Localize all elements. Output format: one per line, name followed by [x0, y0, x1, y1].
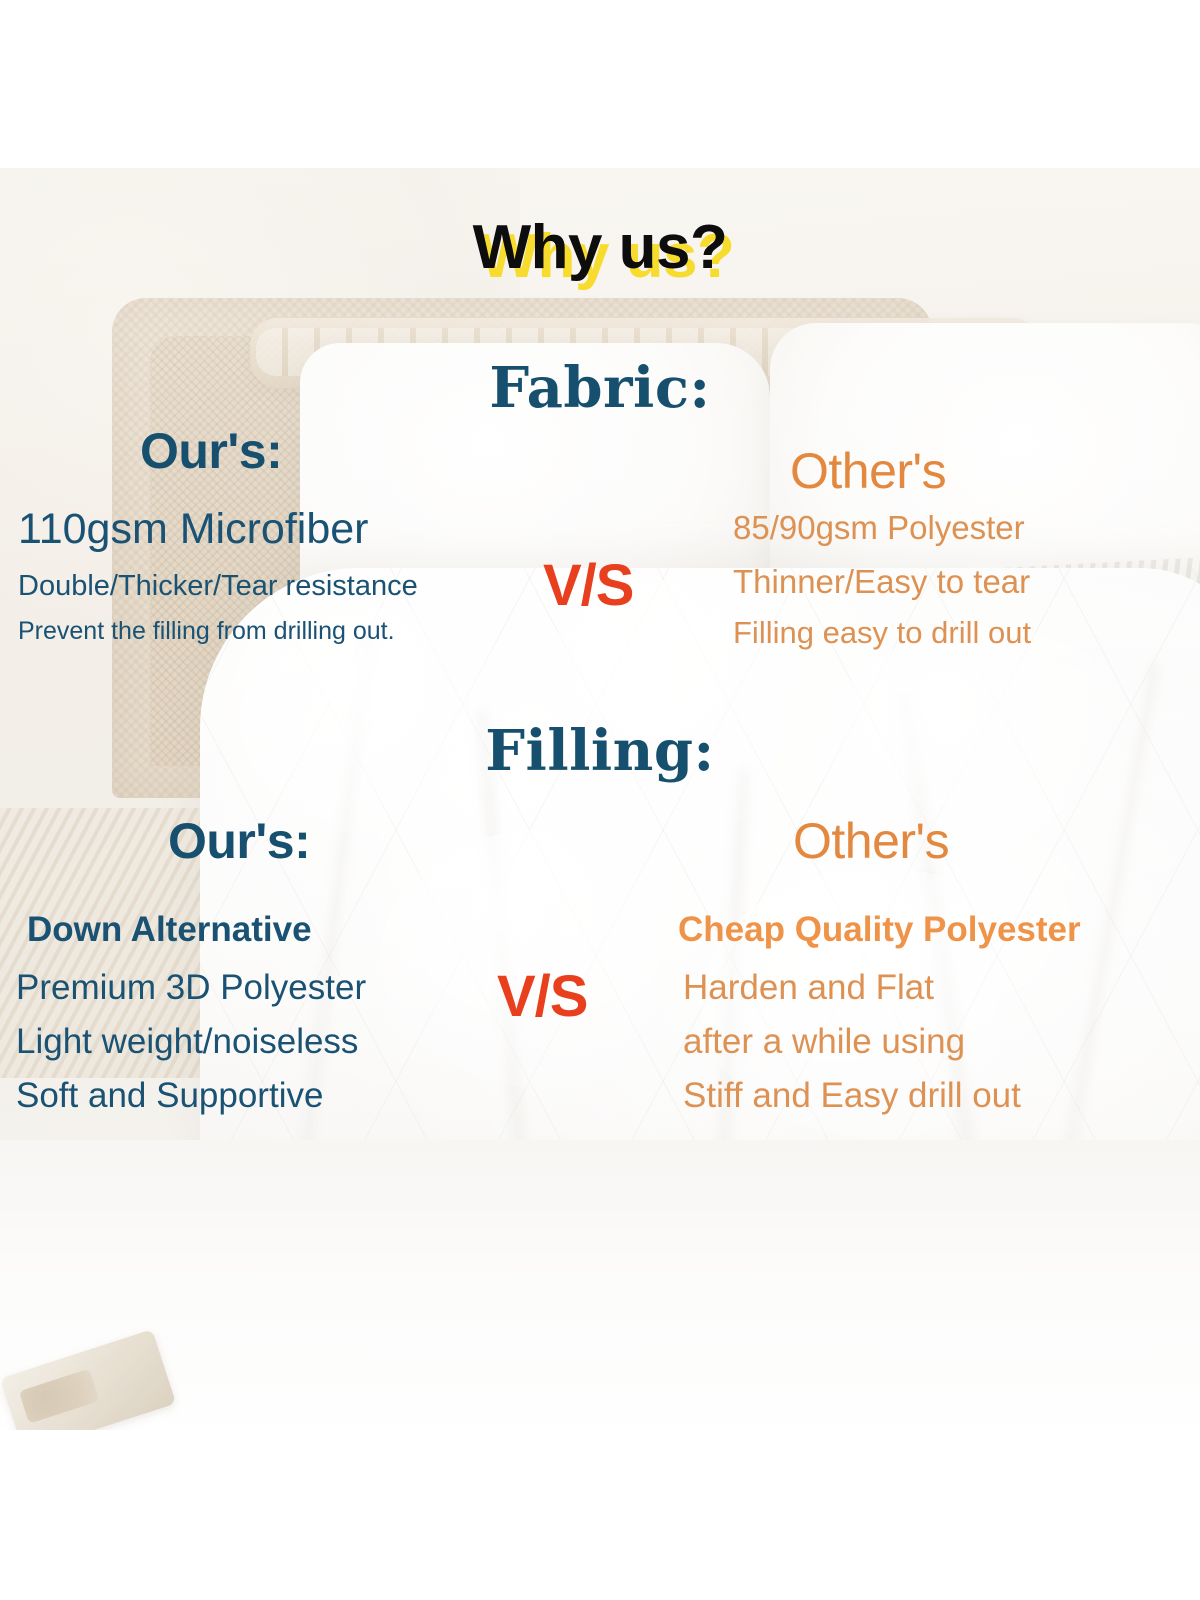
filling-others-line-2: Harden and Flat	[683, 968, 934, 1008]
fabric-others-line-2: Thinner/Easy to tear	[733, 563, 1030, 601]
filling-others-line-4: Stiff and Easy drill out	[683, 1076, 1021, 1116]
infographic-canvas: Why us? Fabric: Our's: 110gsm Microfiber…	[0, 0, 1200, 1600]
filling-ours-line-2: Premium 3D Polyester	[16, 968, 366, 1008]
fabric-ours-line-1: 110gsm Microfiber	[18, 505, 369, 554]
fabric-vs-divider: V/S	[543, 552, 634, 619]
fabric-ours-line-2: Double/Thicker/Tear resistance	[18, 570, 418, 603]
fabric-others-heading: Other's	[790, 442, 946, 500]
fabric-others-line-1: 85/90gsm Polyester	[733, 509, 1025, 547]
filling-ours-line-4: Soft and Supportive	[16, 1076, 323, 1116]
section-heading-filling: Filling:	[0, 718, 1200, 784]
filling-others-heading: Other's	[793, 812, 949, 870]
filling-ours-line-3: Light weight/noiseless	[16, 1022, 358, 1062]
filling-ours-heading: Our's:	[168, 812, 310, 870]
section-heading-fabric: Fabric:	[0, 355, 1200, 421]
fabric-others-line-3: Filling easy to drill out	[733, 615, 1031, 651]
filling-vs-divider: V/S	[497, 963, 588, 1030]
fabric-ours-line-3: Prevent the filling from drilling out.	[18, 617, 395, 646]
filling-ours-line-1: Down Alternative	[27, 910, 312, 950]
text-overlay-layer: Why us? Fabric: Our's: 110gsm Microfiber…	[0, 0, 1200, 1600]
filling-others-line-1: Cheap Quality Polyester	[678, 910, 1081, 950]
filling-others-line-3: after a while using	[683, 1022, 965, 1062]
fabric-ours-heading: Our's:	[140, 422, 282, 480]
page-title: Why us?	[0, 212, 1200, 283]
